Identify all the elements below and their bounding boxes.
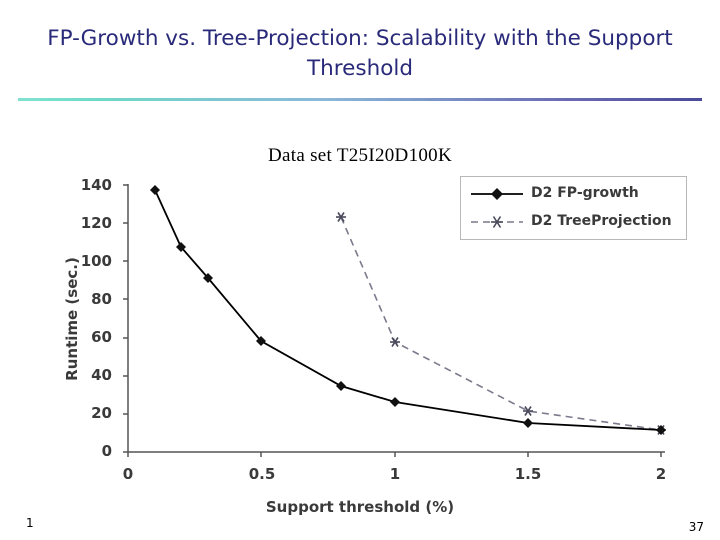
legend-item-treeprojection: D2 TreeProjection bbox=[461, 209, 686, 235]
series-treeprojection-line bbox=[341, 217, 661, 430]
x-axis-label: Support threshold (%) bbox=[140, 498, 580, 516]
chart-legend: D2 FP-growth D2 TreeProjection bbox=[460, 176, 687, 240]
page-title: FP-Growth vs. Tree-Projection: Scalabili… bbox=[40, 24, 680, 84]
chart: Runtime (sec.) Support threshold (%) 140… bbox=[20, 160, 700, 530]
legend-label-fpgrowth: D2 FP-growth bbox=[531, 185, 639, 201]
page-number-left: 1 bbox=[26, 516, 34, 530]
legend-item-fpgrowth: D2 FP-growth bbox=[461, 181, 686, 207]
legend-sample-treeprojection bbox=[469, 209, 525, 235]
series-treeprojection-markers bbox=[336, 213, 666, 435]
legend-label-treeprojection: D2 TreeProjection bbox=[531, 213, 672, 229]
slide: FP-Growth vs. Tree-Projection: Scalabili… bbox=[0, 0, 720, 540]
title-divider bbox=[18, 98, 702, 101]
legend-sample-fpgrowth bbox=[469, 181, 525, 207]
page-number-right: 37 bbox=[689, 520, 704, 534]
